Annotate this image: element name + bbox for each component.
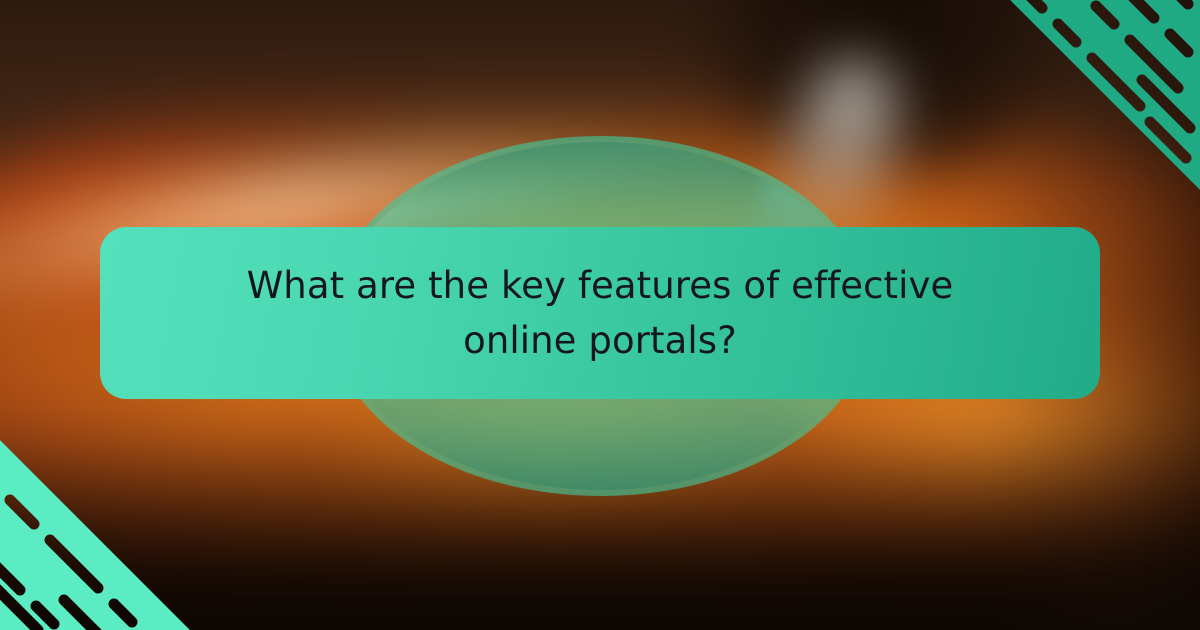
social-quote-card: What are the key features of effective o… [0,0,1200,630]
dashed-triangle-bottom-left-icon [0,440,190,630]
corner-decoration-top-right [1010,0,1200,190]
corner-decoration-bottom-left [0,440,190,630]
quote-text: What are the key features of effective o… [220,258,980,369]
quote-card: What are the key features of effective o… [100,227,1100,399]
dashed-triangle-top-right-icon [1010,0,1200,190]
